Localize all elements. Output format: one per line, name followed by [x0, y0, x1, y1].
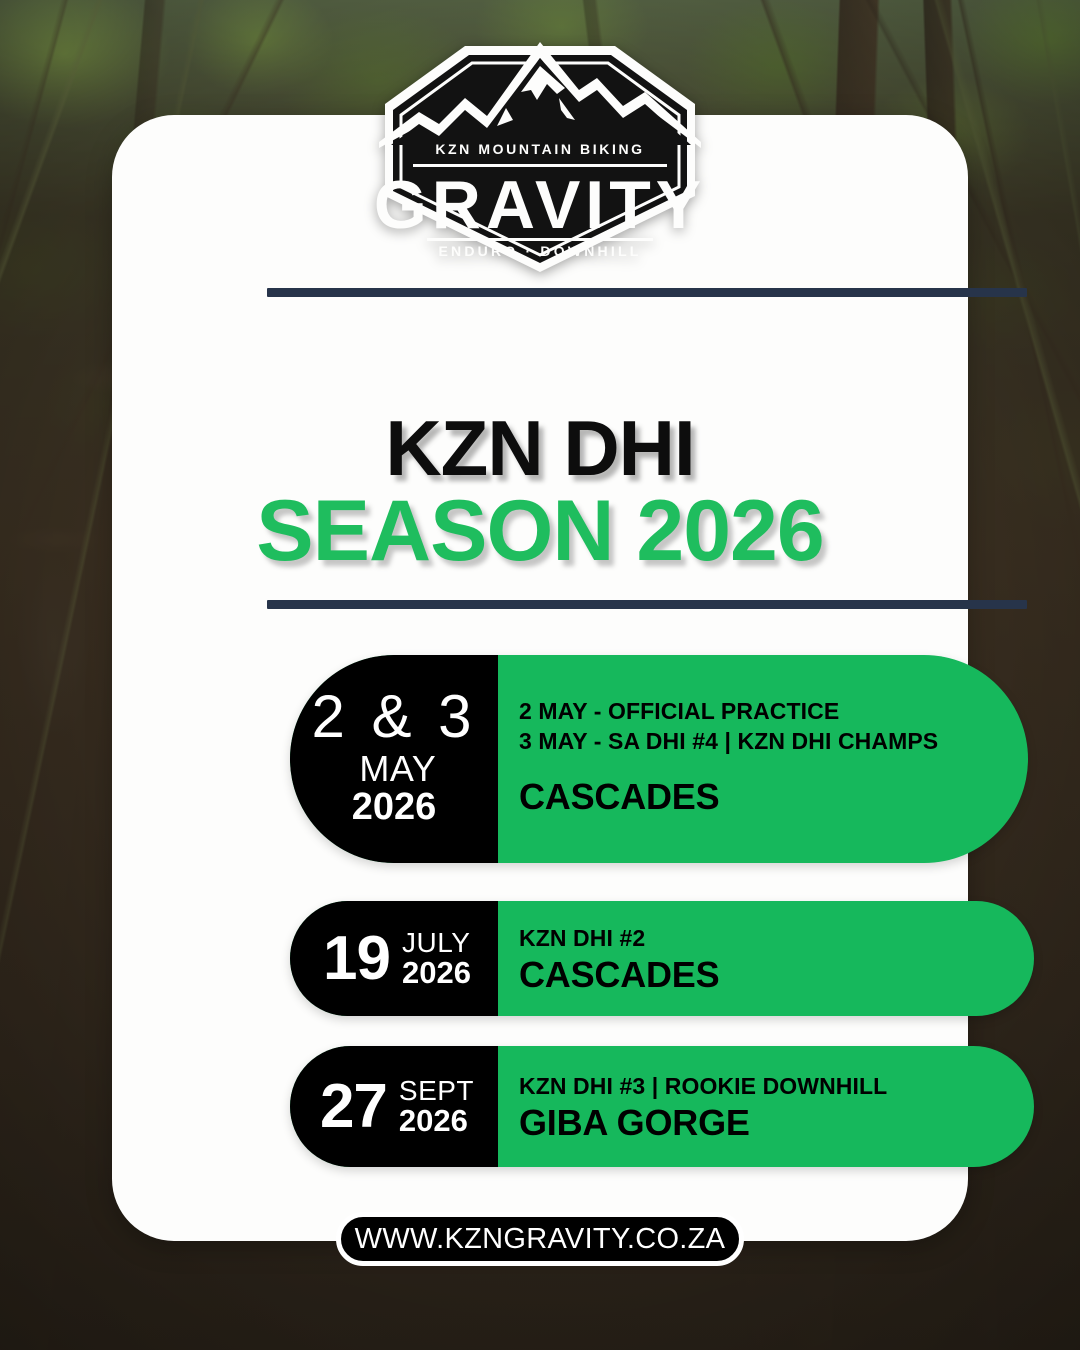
- website-url-text: WWW.KZNGRAVITY.CO.ZA: [355, 1223, 726, 1256]
- logo-rule-bottom: [427, 238, 653, 241]
- event-detail-line: KZN DHI #2: [519, 923, 1034, 953]
- event-day: 27: [320, 1076, 387, 1138]
- event-venue: GIBA GORGE: [519, 1103, 1034, 1143]
- event-year: 2026: [352, 788, 437, 827]
- divider-bottom: [267, 600, 1027, 609]
- event-date-block: 2 & 3 MAY 2026: [290, 655, 498, 863]
- event-month: JULY: [402, 928, 471, 957]
- logo-wordmark: GRAVITY: [374, 167, 706, 243]
- event-month: SEPT: [399, 1076, 474, 1105]
- event-day: 19: [323, 928, 390, 990]
- event-date-block: 19 JULY 2026: [290, 901, 498, 1016]
- title-line-secondary: SEASON 2026: [112, 486, 968, 576]
- event-month-year: SEPT 2026: [399, 1076, 474, 1137]
- event-day: 2 & 3: [311, 687, 476, 747]
- logo-top-text: KZN MOUNTAIN BIKING: [435, 141, 644, 157]
- event-venue: CASCADES: [519, 777, 1028, 817]
- event-month: MAY: [359, 751, 436, 788]
- event-year: 2026: [399, 1105, 474, 1137]
- event-detail-line: KZN DHI #3 | ROOKIE DOWNHILL: [519, 1071, 1034, 1101]
- event-card[interactable]: 2 & 3 MAY 2026 2 MAY - OFFICIAL PRACTICE…: [290, 655, 1028, 863]
- event-month-year: JULY 2026: [402, 928, 471, 989]
- event-date-block: 27 SEPT 2026: [290, 1046, 498, 1167]
- divider-top: [267, 288, 1027, 297]
- event-venue: CASCADES: [519, 955, 1034, 995]
- event-month-year: MAY 2026: [352, 751, 437, 826]
- event-card[interactable]: 19 JULY 2026 KZN DHI #2 CASCADES: [290, 901, 1034, 1016]
- title-line-primary: KZN DHI: [112, 411, 968, 486]
- event-info-block: KZN DHI #3 | ROOKIE DOWNHILL GIBA GORGE: [498, 1046, 1034, 1167]
- event-year: 2026: [402, 957, 471, 989]
- page-title: KZN DHI SEASON 2026: [112, 411, 968, 576]
- event-card[interactable]: 27 SEPT 2026 KZN DHI #3 | ROOKIE DOWNHIL…: [290, 1046, 1034, 1167]
- logo-bottom-text: ENDURO · DOWNHILL: [439, 243, 642, 259]
- event-info-block: KZN DHI #2 CASCADES: [498, 901, 1034, 1016]
- event-detail-line: 2 MAY - OFFICIAL PRACTICE: [519, 696, 1028, 726]
- event-info-block: 2 MAY - OFFICIAL PRACTICE 3 MAY - SA DHI…: [498, 655, 1028, 863]
- gravity-logo: KZN MOUNTAIN BIKING GRAVITY ENDURO · DOW…: [361, 28, 719, 280]
- website-url-badge[interactable]: WWW.KZNGRAVITY.CO.ZA: [336, 1212, 744, 1266]
- poster-card: KZN DHI SEASON 2026 2 & 3 MAY 2026 2 MAY…: [112, 115, 968, 1241]
- event-detail-line: 3 MAY - SA DHI #4 | KZN DHI CHAMPS: [519, 726, 1028, 756]
